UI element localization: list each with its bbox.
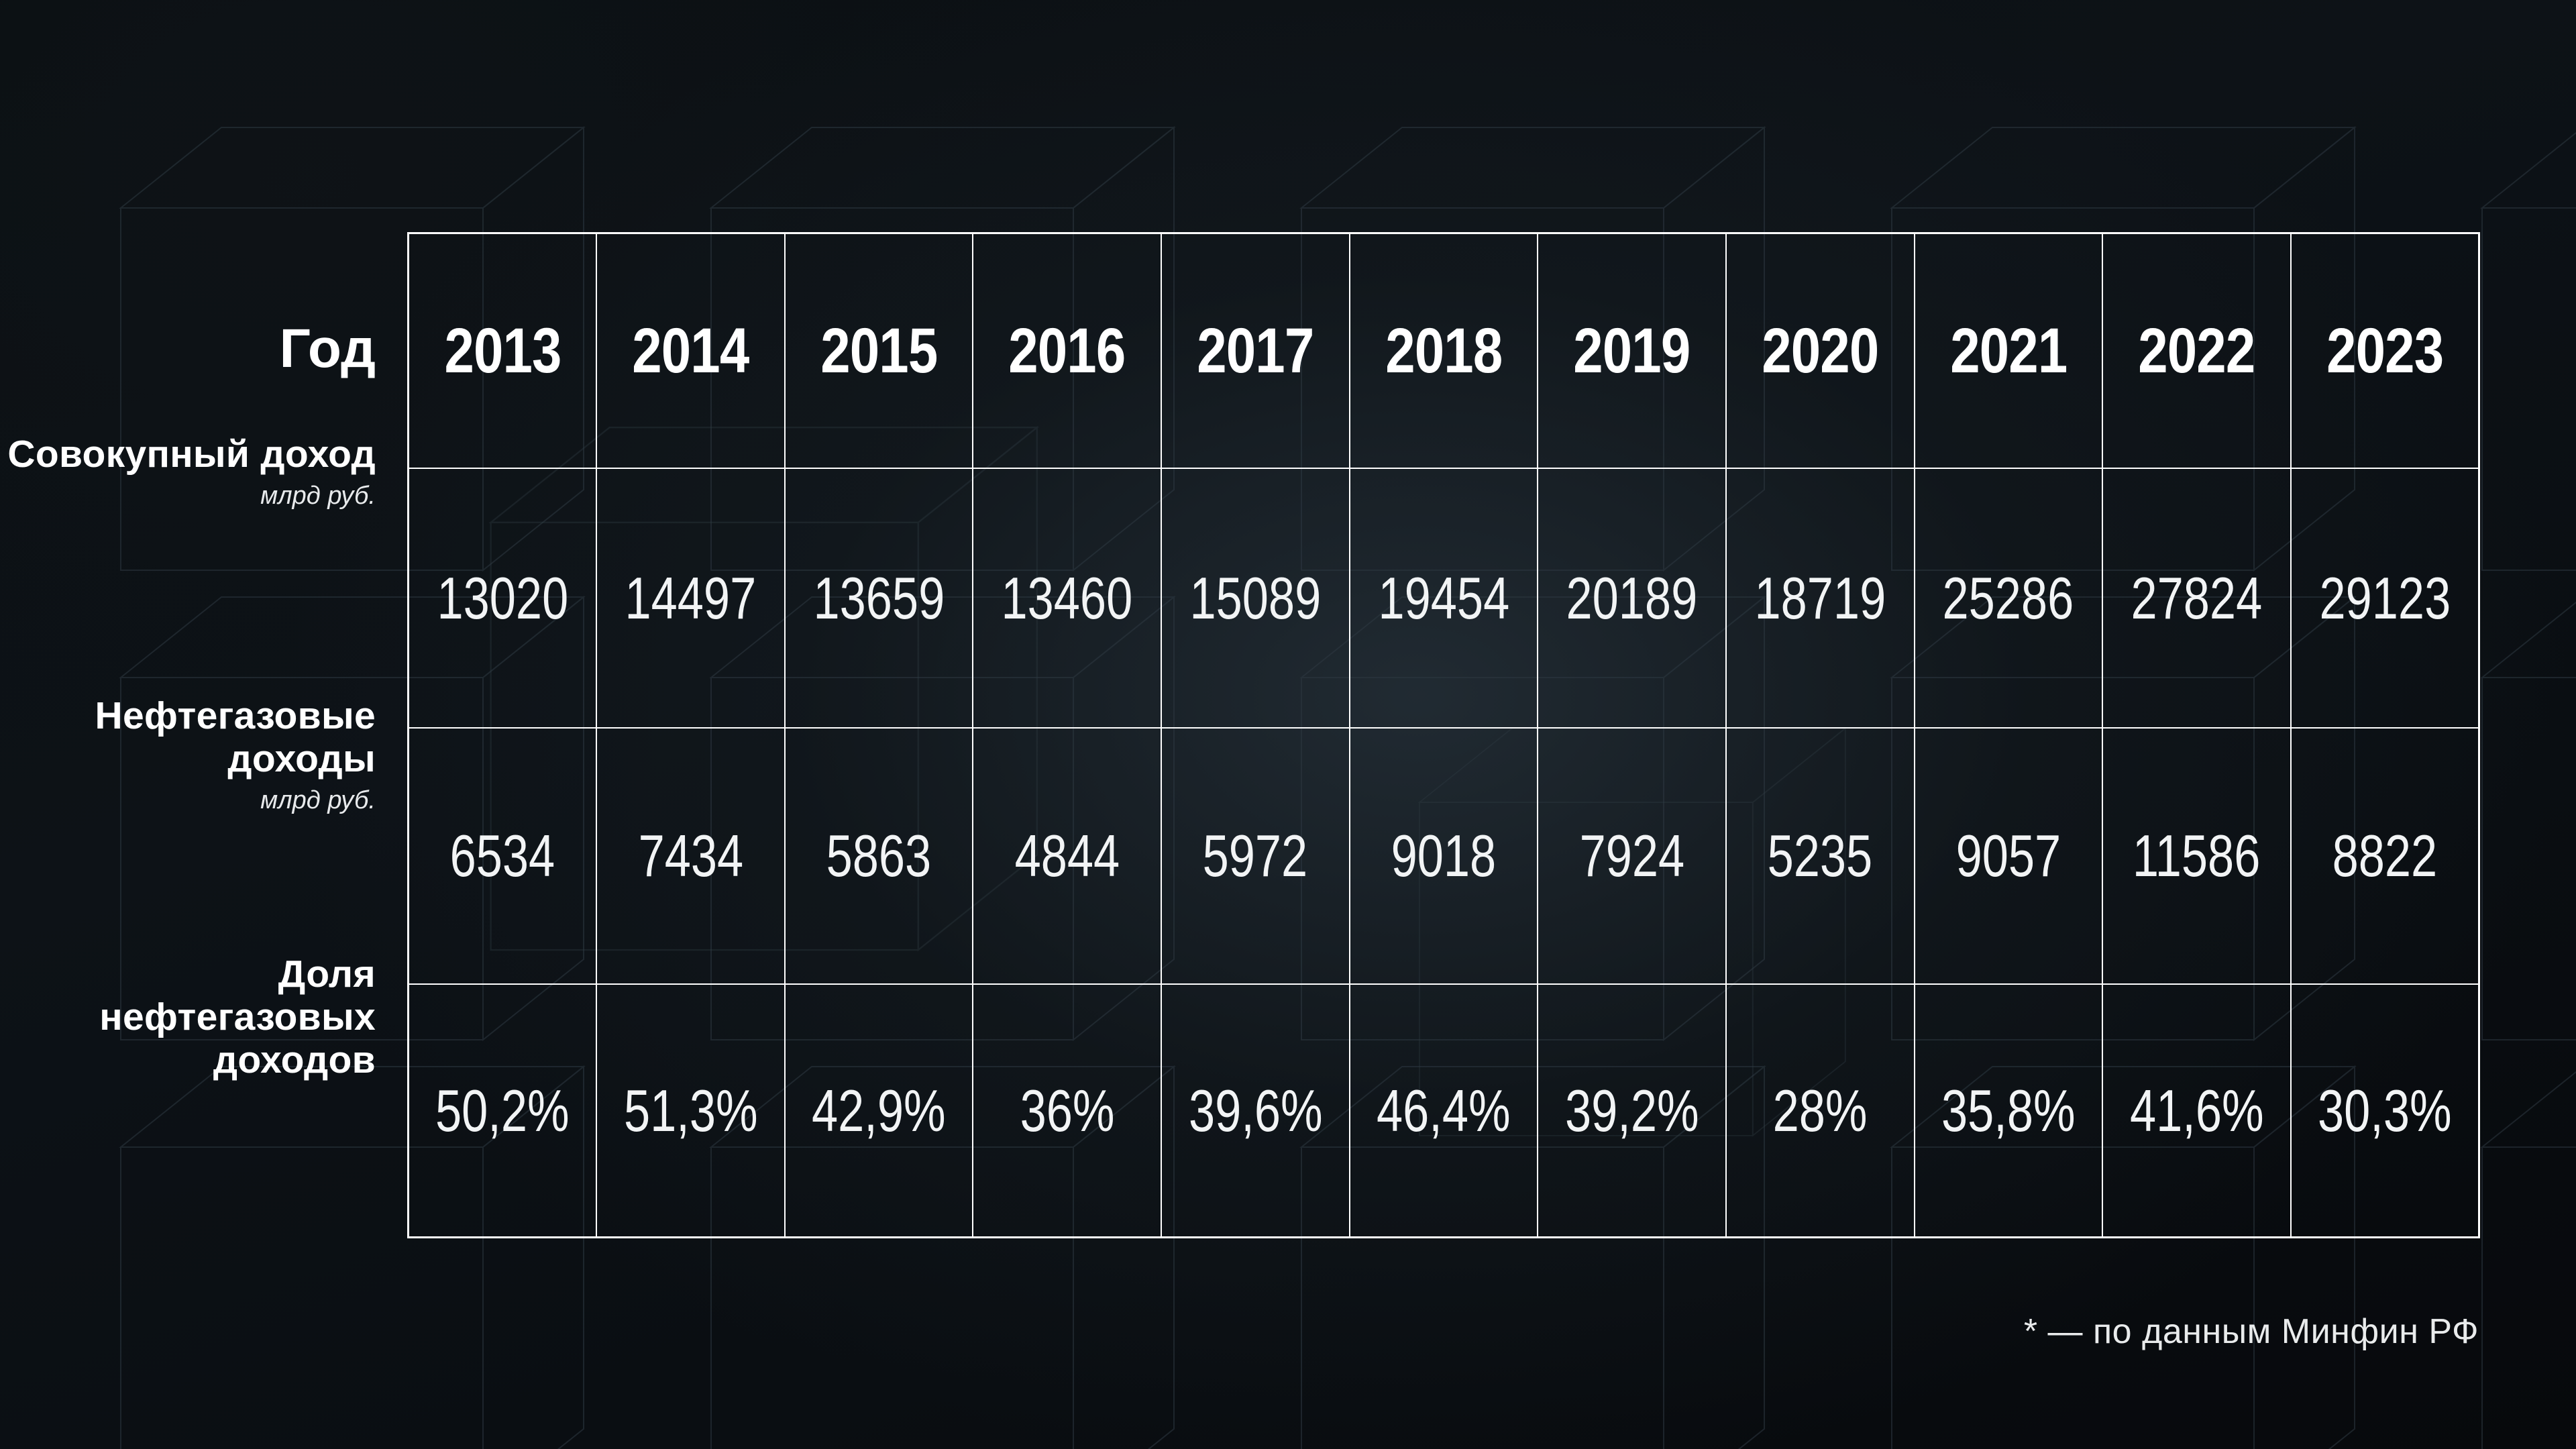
header-cell-year: 2023 (2306, 233, 2464, 469)
table-header-row: 2013 2014 2015 2016 2017 2018 2019 2020 … (409, 233, 2479, 469)
cell-total-income: 27824 (2102, 468, 2291, 728)
cell-oil-gas-share: 28% (1726, 984, 1915, 1238)
header-year-2023: 2023 (2326, 315, 2443, 386)
cell-total-income: 13020 (409, 468, 597, 728)
header-year-2021: 2021 (1950, 315, 2067, 386)
cell-oil-gas-share: 30,3% (2291, 984, 2479, 1238)
cell-oil-gas-income: 5863 (785, 728, 973, 984)
table-row-oil-gas-share: 50,2% 51,3% 42,9% 36% 39,6% 46,4% 39,2% … (409, 984, 2479, 1238)
header-cell-year: 2022 (2118, 233, 2276, 469)
row-label-oil-gas-share: Доля нефтегазовых доходов (0, 953, 376, 1081)
cell-total-income: 14497 (596, 468, 785, 728)
cell-oil-gas-share: 42,9% (785, 984, 973, 1238)
header-year-2022: 2022 (2138, 315, 2255, 386)
row-labels-column: Совокупный доход млрд руб. Нефтегазовые … (0, 232, 376, 1230)
header-cell-year: 2014 (612, 233, 770, 469)
header-cell-year: 2013 (423, 233, 582, 469)
slide-root: Год Совокупный доход млрд руб. Нефтегазо… (0, 0, 2576, 1449)
cell-total-income: 25286 (1915, 468, 2103, 728)
cell-oil-gas-income: 5235 (1726, 728, 1915, 984)
header-cell-year: 2019 (1553, 233, 1711, 469)
cell-total-income: 20189 (1538, 468, 1726, 728)
cell-oil-gas-income: 5972 (1161, 728, 1350, 984)
source-footnote: * — по данным Минфин РФ (2024, 1311, 2479, 1352)
row-label-total-income: Совокупный доход млрд руб. (0, 433, 376, 512)
cell-total-income: 18719 (1726, 468, 1915, 728)
header-year-2016: 2016 (1009, 315, 1126, 386)
cell-oil-gas-income: 7434 (596, 728, 785, 984)
cell-oil-gas-income: 11586 (2102, 728, 2291, 984)
header-year-2019: 2019 (1573, 315, 1690, 386)
cell-total-income: 15089 (1161, 468, 1350, 728)
cell-oil-gas-share: 50,2% (409, 984, 597, 1238)
cell-oil-gas-share: 35,8% (1915, 984, 2103, 1238)
cell-oil-gas-share: 41,6% (2102, 984, 2291, 1238)
header-year-2020: 2020 (1762, 315, 1878, 386)
table-row-oil-gas-income: 6534 7434 5863 4844 5972 9018 7924 5235 … (409, 728, 2479, 984)
cell-oil-gas-share: 51,3% (596, 984, 785, 1238)
header-cell-year: 2016 (988, 233, 1146, 469)
table-row-total-income: 13020 14497 13659 13460 15089 19454 2018… (409, 468, 2479, 728)
header-cell-year: 2018 (1364, 233, 1523, 469)
row-label-oil-gas-income-units: млрд руб. (0, 785, 376, 817)
header-cell-year: 2020 (1741, 233, 1899, 469)
cell-oil-gas-income: 4844 (973, 728, 1161, 984)
header-cell-year: 2021 (1929, 233, 2088, 469)
header-cell-year: 2015 (800, 233, 958, 469)
cell-oil-gas-share: 39,6% (1161, 984, 1350, 1238)
cell-total-income: 13460 (973, 468, 1161, 728)
header-cell-year: 2017 (1176, 233, 1334, 469)
cell-oil-gas-income: 8822 (2291, 728, 2479, 984)
data-table-wrapper: 2013 2014 2015 2016 2017 2018 2019 2020 … (407, 232, 2480, 1230)
header-year-2018: 2018 (1385, 315, 1502, 386)
header-year-2014: 2014 (632, 315, 749, 386)
row-label-oil-gas-income: Нефтегазовые доходы млрд руб. (0, 695, 376, 816)
row-label-total-income-units: млрд руб. (0, 480, 376, 513)
cell-oil-gas-share: 36% (973, 984, 1161, 1238)
cell-oil-gas-income: 7924 (1538, 728, 1726, 984)
row-label-oil-gas-income-title: Нефтегазовые доходы (0, 695, 376, 781)
cell-oil-gas-income: 6534 (409, 728, 597, 984)
header-year-2013: 2013 (444, 315, 561, 386)
cell-oil-gas-share: 46,4% (1350, 984, 1538, 1238)
header-year-2015: 2015 (820, 315, 937, 386)
cell-total-income: 13659 (785, 468, 973, 728)
data-table: 2013 2014 2015 2016 2017 2018 2019 2020 … (407, 232, 2480, 1238)
cell-oil-gas-income: 9018 (1350, 728, 1538, 984)
cell-oil-gas-share: 39,2% (1538, 984, 1726, 1238)
header-year-2017: 2017 (1197, 315, 1313, 386)
row-label-oil-gas-share-title: Доля нефтегазовых доходов (0, 953, 376, 1081)
cell-total-income: 19454 (1350, 468, 1538, 728)
cell-total-income: 29123 (2291, 468, 2479, 728)
cell-oil-gas-income: 9057 (1915, 728, 2103, 984)
row-label-total-income-title: Совокупный доход (0, 433, 376, 476)
